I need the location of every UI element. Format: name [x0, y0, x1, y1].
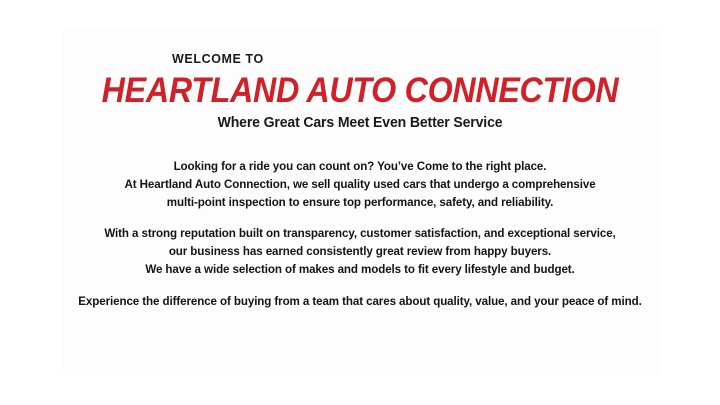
paragraph-line: At Heartland Auto Connection, we sell qu… [0, 176, 720, 194]
brand-tagline: Where Great Cars Meet Even Better Servic… [11, 114, 709, 132]
brand-wordmark: HEARTLAND AUTO CONNECTION [29, 73, 691, 109]
paragraph: Looking for a ride you can count on? You… [0, 158, 720, 211]
paragraph-line: Experience the difference of buying from… [0, 293, 720, 311]
paragraph-line: We have a wide selection of makes and mo… [0, 261, 720, 279]
paragraph: Experience the difference of buying from… [0, 293, 720, 311]
paragraph-line: multi-point inspection to ensure top per… [0, 194, 720, 212]
paragraph-line: our business has earned consistently gre… [0, 243, 720, 261]
paragraph-line: With a strong reputation built on transp… [0, 225, 720, 243]
body-copy: Looking for a ride you can count on? You… [0, 158, 720, 311]
welcome-label: WELCOME TO [172, 52, 720, 67]
dealership-welcome-page: WELCOME TO HEARTLAND AUTO CONNECTION Whe… [0, 0, 720, 405]
header-block: WELCOME TO HEARTLAND AUTO CONNECTION Whe… [0, 52, 720, 132]
paragraph-line: Looking for a ride you can count on? You… [0, 158, 720, 176]
page-inner: WELCOME TO HEARTLAND AUTO CONNECTION Whe… [0, 0, 720, 405]
paragraph: With a strong reputation built on transp… [0, 225, 720, 278]
